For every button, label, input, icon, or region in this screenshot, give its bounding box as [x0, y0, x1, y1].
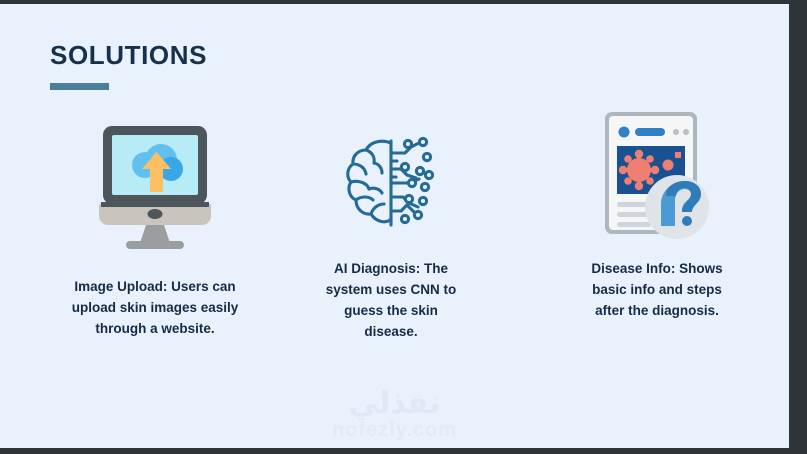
window-bottom-border: [0, 448, 807, 454]
page-title: SOLUTIONS: [50, 42, 207, 68]
solution-caption: AI Diagnosis: The system uses CNN to gue…: [321, 258, 461, 342]
brain-left-half: [348, 141, 391, 221]
monitor-cloud-upload-icon: [46, 108, 264, 268]
watermark: نفذلي nofezly.com: [0, 388, 789, 443]
question-badge: [645, 175, 709, 239]
watermark-latin-text: nofezly.com: [0, 419, 789, 442]
solution-column-disease-info: Disease Info: Shows basic info and steps…: [548, 108, 766, 321]
solution-column-ai-diagnosis: AI Diagnosis: The system uses CNN to gue…: [282, 108, 500, 342]
solution-caption: Image Upload: Users can upload skin imag…: [60, 276, 250, 339]
title-block: SOLUTIONS: [50, 42, 207, 90]
window-right-border: [789, 0, 807, 454]
solution-column-image-upload: Image Upload: Users can upload skin imag…: [46, 108, 264, 339]
title-underline-rule: [50, 83, 109, 90]
solution-caption: Disease Info: Shows basic info and steps…: [577, 258, 737, 321]
ai-brain-circuit-icon: [282, 108, 500, 258]
disease-info-document-icon: [548, 108, 766, 258]
presentation-slide: SOLUTIONS: [0, 4, 789, 448]
watermark-arabic-text: نفذلي: [0, 388, 789, 420]
